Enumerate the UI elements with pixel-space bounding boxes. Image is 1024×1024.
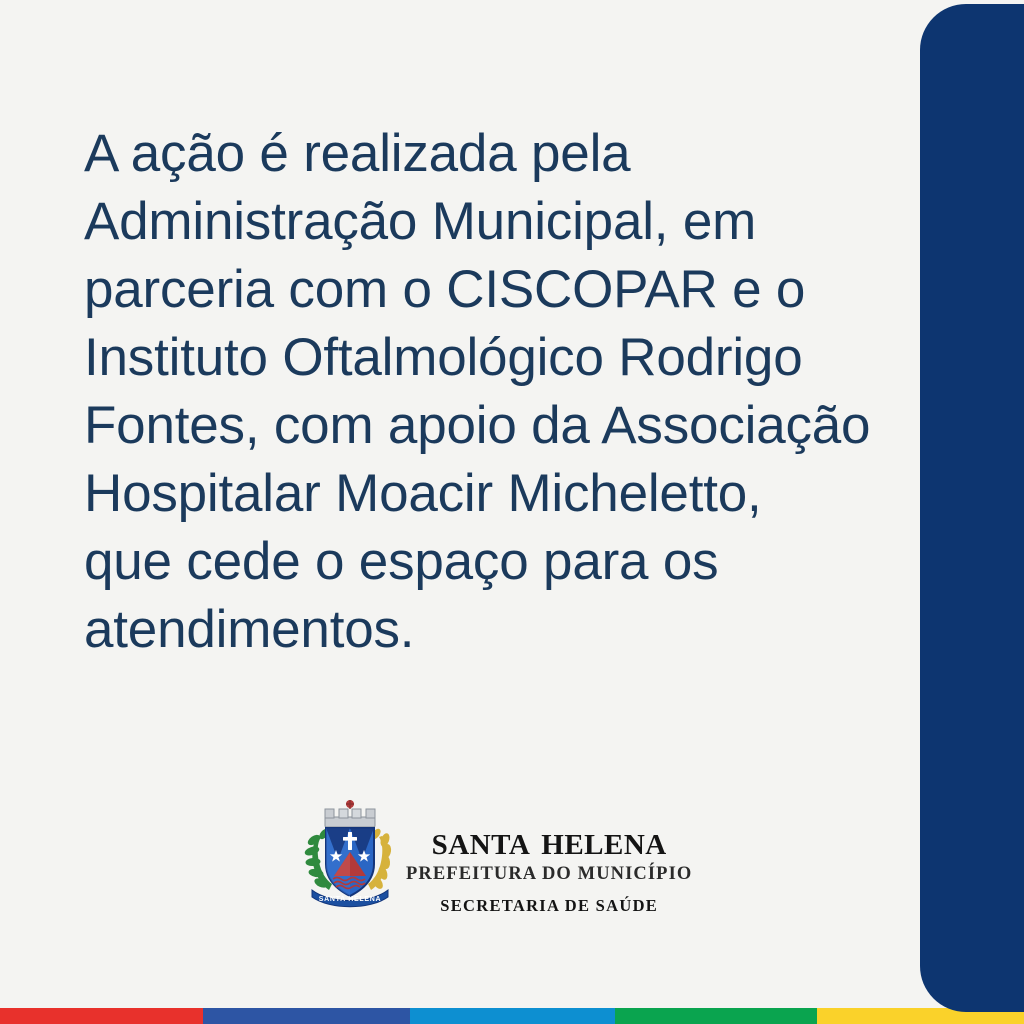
headline-text-block: A ação é realizada pela Administração Mu… [84, 120, 894, 664]
brand-name: Santa Helena [432, 820, 667, 862]
color-bar-segment-green [615, 1008, 817, 1024]
brand-logo-lockup: SANTA HELENA Santa Helena PREFEITURA DO … [302, 798, 722, 926]
headline-line: parceria com o CISCOPAR e o [84, 256, 894, 324]
crest-ribbon-label: SANTA HELENA [319, 896, 381, 903]
brand-color-bar [0, 1008, 1024, 1024]
headline-line: Administração Municipal, em [84, 188, 894, 256]
headline-line: A ação é realizada pela [84, 120, 894, 188]
color-bar-segment-dark-blue [203, 1008, 410, 1024]
brand-subtitle: PREFEITURA DO MUNICÍPIO [406, 863, 692, 885]
coat-of-arms-icon: SANTA HELENA [302, 798, 398, 910]
headline-line: Fontes, com apoio da Associação [84, 392, 894, 460]
headline-line: Instituto Oftalmológico Rodrigo [84, 324, 894, 392]
headline-line: Hospitalar Moacir Micheletto, [84, 460, 894, 528]
color-bar-segment-light-blue [410, 1008, 615, 1024]
brand-department: SECRETARIA DE SAÚDE [440, 896, 658, 916]
social-post-canvas: A ação é realizada pela Administração Mu… [0, 0, 1024, 1024]
color-bar-segment-red [0, 1008, 203, 1024]
brand-wordmark: Santa Helena PREFEITURA DO MUNICÍPIO SEC… [406, 798, 692, 916]
headline-line: atendimentos. [84, 596, 894, 664]
headline-line: que cede o espaço para os [84, 528, 894, 596]
right-navy-panel [920, 4, 1024, 1012]
